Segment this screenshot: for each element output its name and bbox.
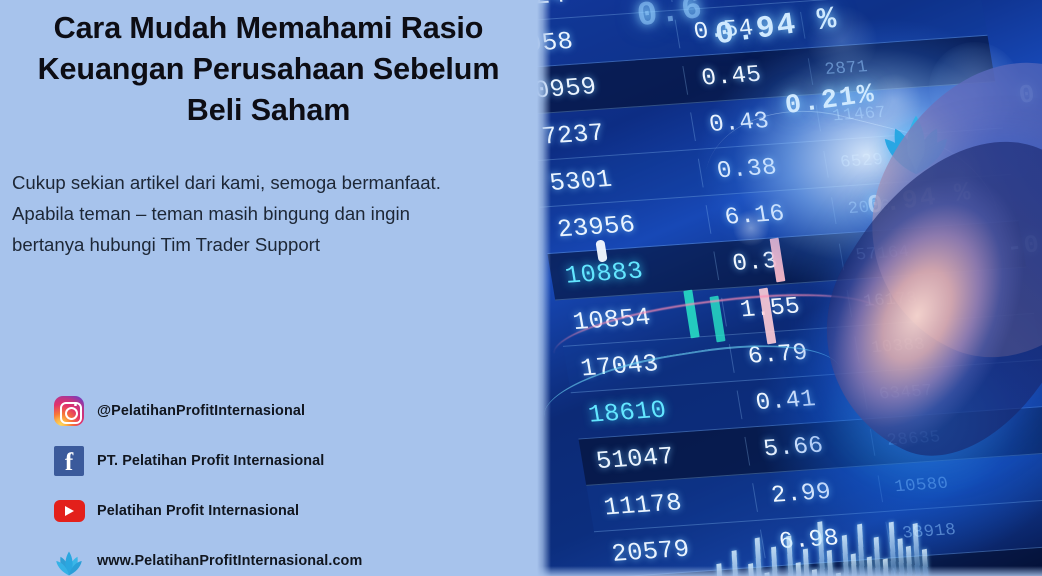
photo-left-edge-fade (537, 0, 551, 576)
social-row-instagram[interactable]: @PelatihanProfitInternasional (52, 388, 502, 434)
stock-market-photo: 924 0.60 958 0.54 0959 0.45 2871 7237 0.… (537, 0, 1042, 576)
body-line-2: Apabila teman – teman masih bingung dan … (12, 198, 519, 229)
ticker-code: 5301 (537, 158, 704, 198)
body-line-3: bertanya hubungi Tim Trader Support (12, 229, 519, 260)
body-line-1: Cukup sekian artikel dari kami, semoga b… (12, 167, 519, 198)
left-content-panel: Cara Mudah Memahami Rasio Keuangan Perus… (0, 0, 537, 576)
social-links-list: @PelatihanProfitInternasional f PT. Pela… (52, 388, 502, 576)
youtube-icon (52, 494, 86, 528)
ticker-code: 7237 (537, 112, 696, 152)
lotus-logo-svg (52, 545, 86, 576)
body-paragraph: Cukup sekian artikel dari kami, semoga b… (8, 167, 529, 260)
ticker-code: 0959 (537, 66, 688, 106)
social-row-facebook[interactable]: f PT. Pelatihan Profit Internasional (52, 438, 502, 484)
facebook-page-label: PT. Pelatihan Profit Internasional (97, 453, 324, 469)
lotus-logo-icon (52, 544, 86, 576)
slide-canvas: Cara Mudah Memahami Rasio Keuangan Perus… (0, 0, 1042, 576)
page-title: Cara Mudah Memahami Rasio Keuangan Perus… (8, 8, 529, 131)
ticker-value: 0.45 (683, 58, 813, 93)
photo-bottom-edge-fade (537, 566, 1042, 576)
facebook-icon: f (52, 444, 86, 478)
instagram-icon (52, 394, 86, 428)
ticker-extra: 2871 (809, 54, 922, 80)
website-url-label: www.PelatihanProfitInternasional.com (97, 553, 362, 569)
social-row-youtube[interactable]: Pelatihan Profit Internasional (52, 488, 502, 534)
ticker-code: 23956 (541, 205, 711, 245)
ticker-code: 10883 (549, 251, 719, 291)
instagram-handle-label: @PelatihanProfitInternasional (97, 403, 305, 419)
social-row-website[interactable]: www.PelatihanProfitInternasional.com (52, 538, 502, 576)
youtube-channel-label: Pelatihan Profit Internasional (97, 503, 299, 519)
